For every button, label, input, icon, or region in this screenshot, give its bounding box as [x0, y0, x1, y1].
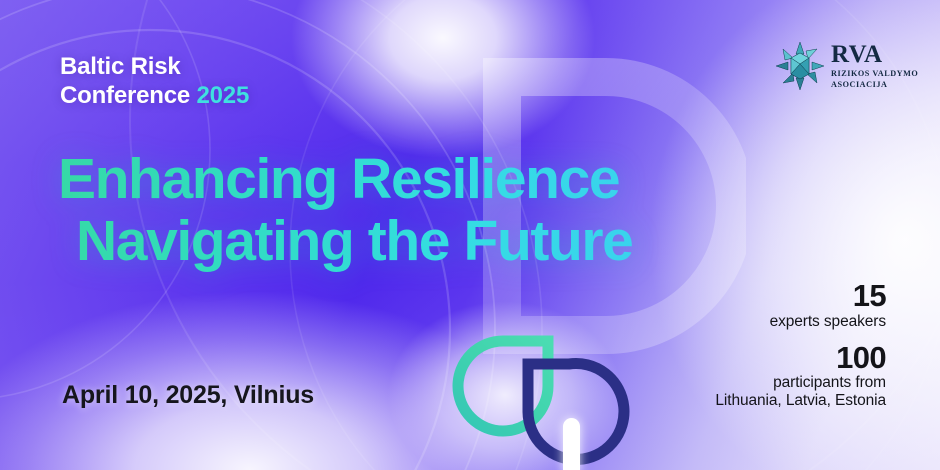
headline-line-1: Enhancing Resilience	[58, 147, 619, 211]
kicker-line-2: Conference 2025	[60, 81, 249, 110]
rva-subtitle: RIZIKOS VALDYMO ASOCIACIJA	[831, 69, 918, 90]
headline-line-2: Navigating the Future	[58, 210, 818, 272]
rva-logo-text: RVA RIZIKOS VALDYMO ASOCIACIJA	[831, 42, 918, 90]
stat-participants-number: 100	[715, 342, 886, 374]
conference-banner: Baltic Risk Conference 2025 Enhancing Re…	[0, 0, 940, 470]
stat-participants-label-line-2: Lithuania, Latvia, Estonia	[715, 392, 886, 410]
rva-name: RVA	[831, 42, 918, 67]
rva-subtitle-line-2: ASOCIACIJA	[831, 80, 918, 90]
star-polyhedron-icon	[776, 42, 824, 90]
stat-participants-label-line-1: participants from	[715, 374, 886, 392]
stat-participants-label: participants from Lithuania, Latvia, Est…	[715, 374, 886, 410]
rva-logo: RVA RIZIKOS VALDYMO ASOCIACIJA	[776, 42, 918, 90]
rva-subtitle-line-1: RIZIKOS VALDYMO	[831, 69, 918, 79]
event-kicker: Baltic Risk Conference 2025	[60, 52, 249, 111]
stat-participants: 100 participants from Lithuania, Latvia,…	[715, 342, 886, 411]
stat-speakers: 15 experts speakers	[715, 280, 886, 331]
stat-speakers-number: 15	[715, 280, 886, 312]
white-vertical-bar	[563, 418, 580, 470]
kicker-conference-label: Conference	[60, 82, 190, 109]
page-title: Enhancing Resilience Navigating the Futu…	[58, 148, 818, 272]
stat-speakers-label: experts speakers	[715, 313, 886, 331]
stats-block: 15 experts speakers 100 participants fro…	[715, 280, 886, 410]
kicker-line-1: Baltic Risk	[60, 52, 249, 81]
event-date-location: April 10, 2025, Vilnius	[62, 381, 314, 410]
kicker-year: 2025	[197, 82, 250, 109]
